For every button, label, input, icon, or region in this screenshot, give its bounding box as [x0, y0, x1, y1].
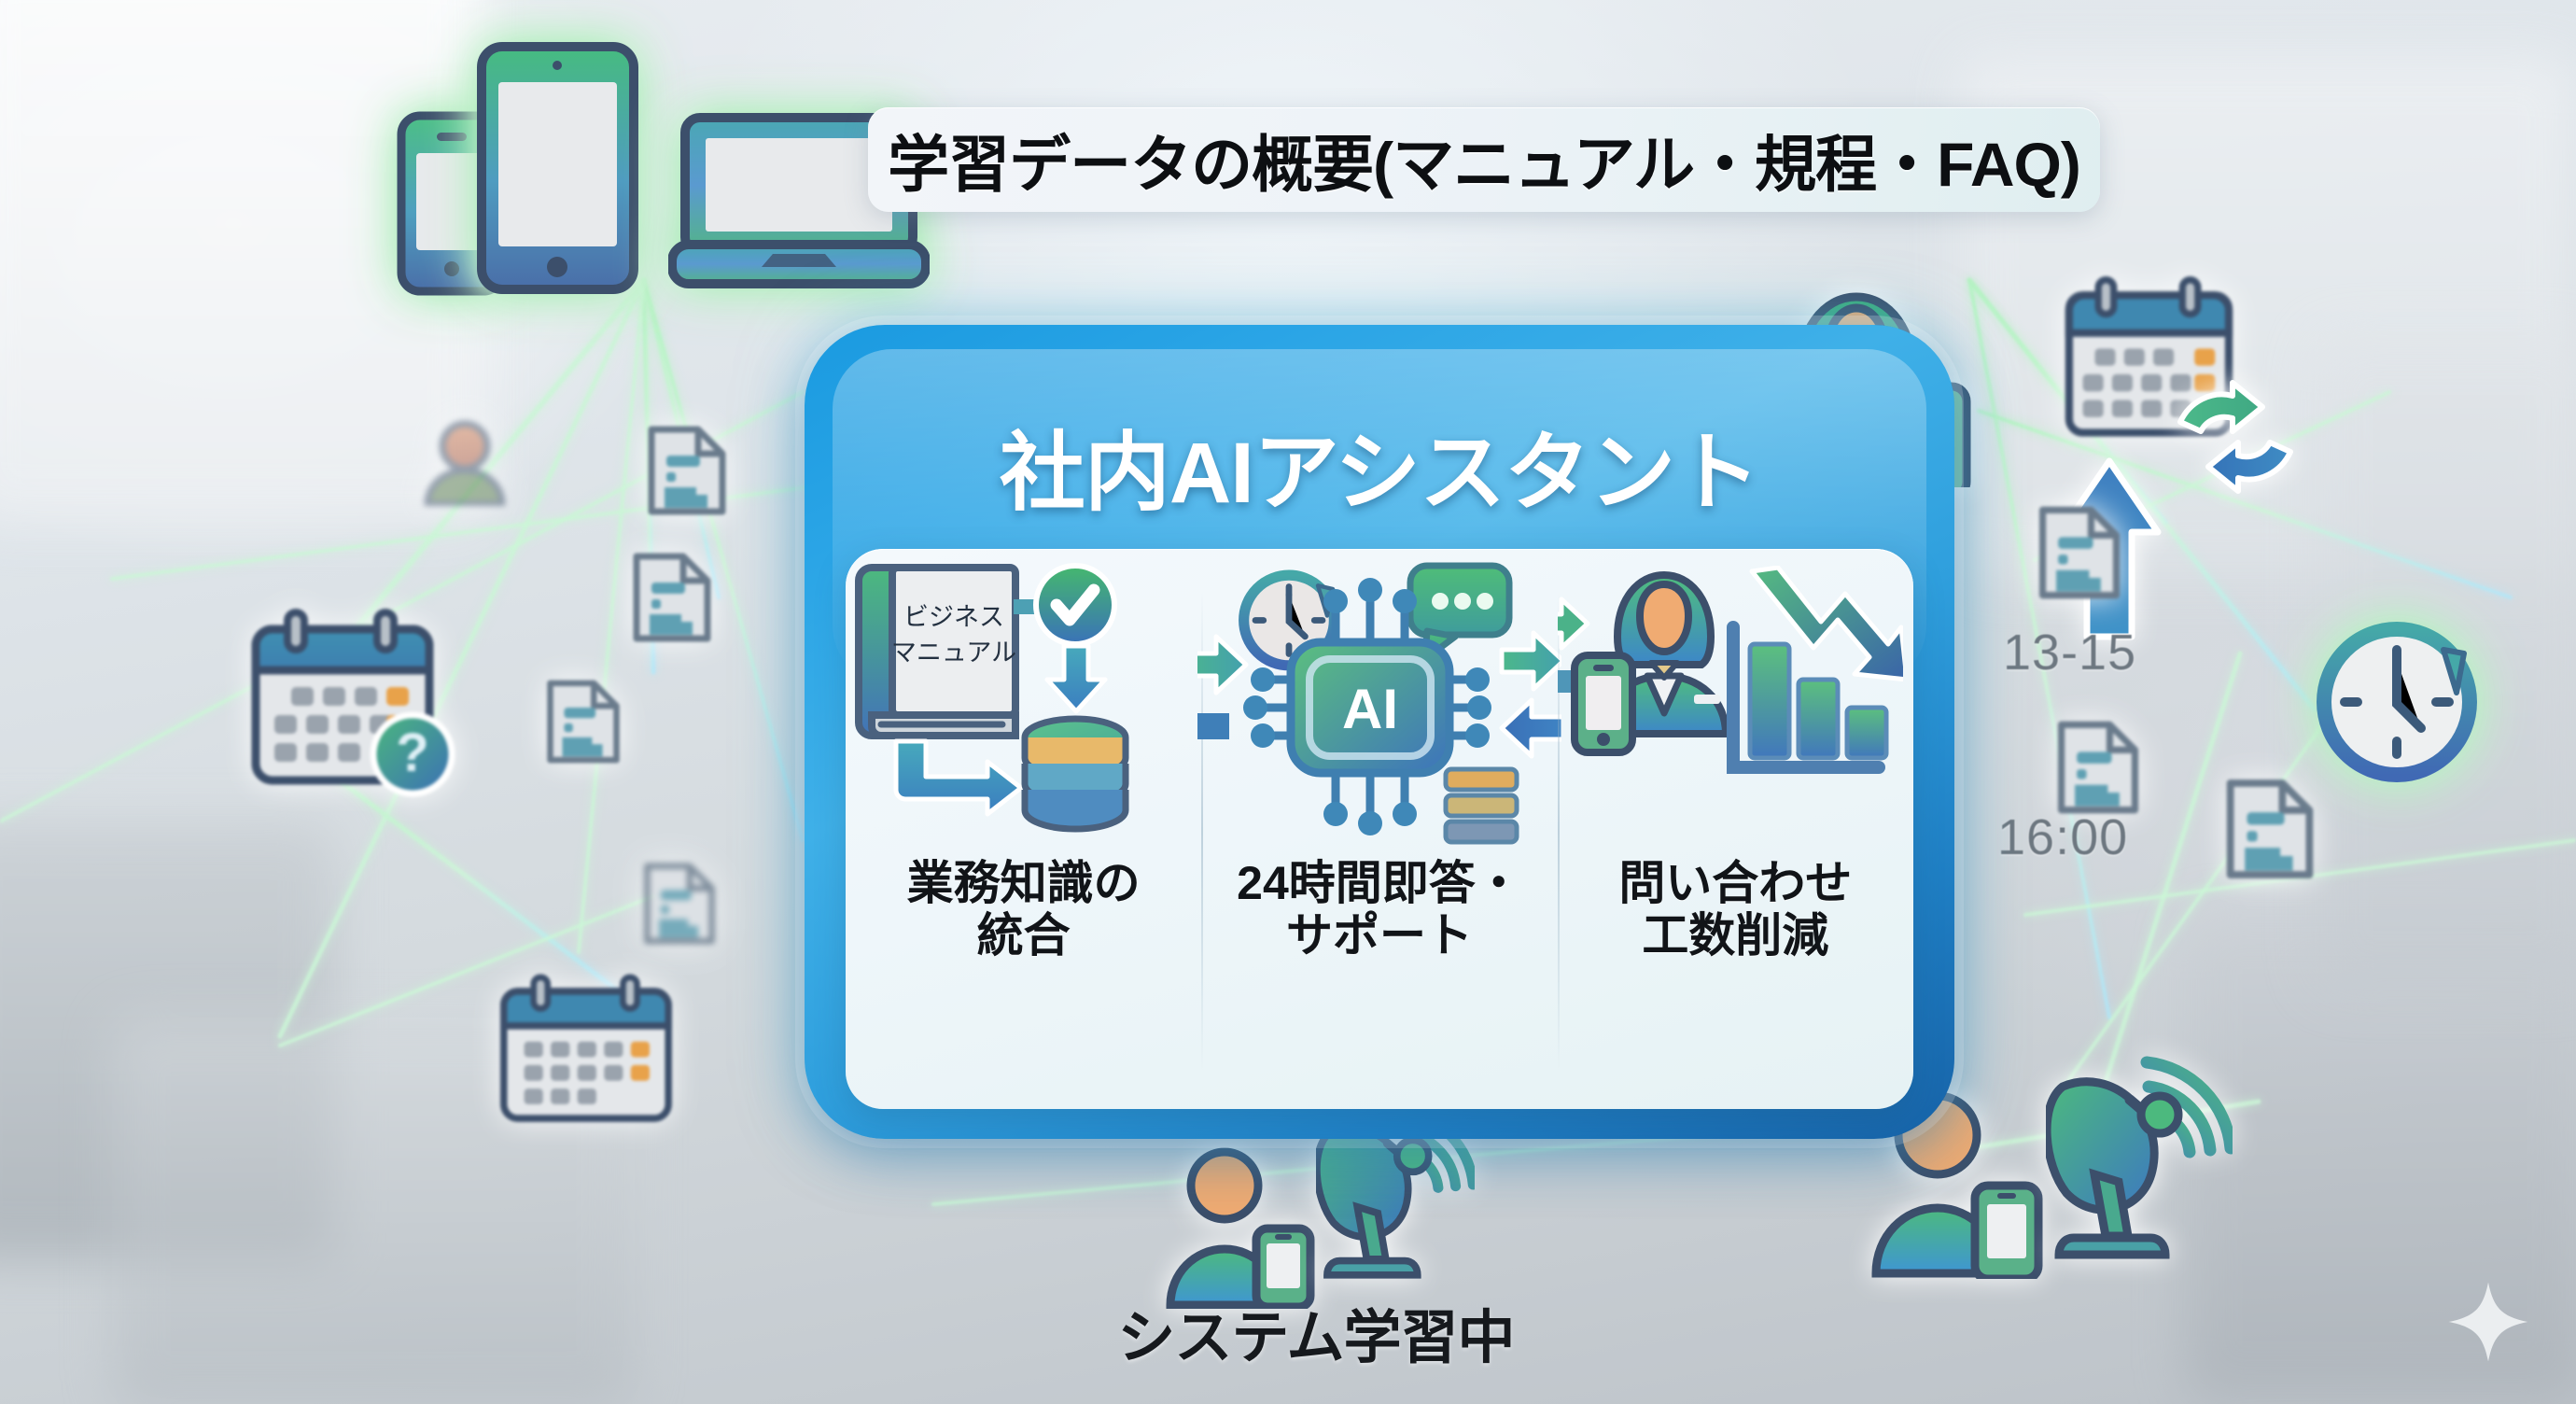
document-icon	[640, 859, 719, 953]
feature-column-support: AI 24時間即答・ サポート	[1201, 549, 1557, 1109]
banner-title-text: 学習データの概要(マニュアル・規程・FAQ)	[888, 115, 2080, 204]
support-artwork: AI	[1201, 549, 1557, 857]
user-icon	[418, 420, 511, 511]
label-line-1: 業務知識の	[907, 857, 1141, 909]
time-range-label: 13-15	[2003, 624, 2136, 681]
card-title: 社内AIアシスタント	[805, 403, 1954, 527]
label-line-2: サポート	[1237, 909, 1522, 962]
book-label-line2: マニュアル	[891, 639, 1016, 667]
column-label-knowledge: 業務知識の 統合	[907, 857, 1141, 962]
document-icon	[543, 676, 623, 772]
sparkle-icon	[2445, 1279, 2531, 1365]
sync-arrows-icon	[2165, 373, 2305, 509]
title-banner: 学習データの概要(マニュアル・規程・FAQ)	[868, 107, 2100, 212]
slide-canvas: ?	[0, 0, 2576, 1404]
book-label-line1: ビジネス	[903, 603, 1004, 631]
label-line-2: 統合	[907, 909, 1141, 962]
label-line-2: 工数削減	[1618, 909, 1852, 962]
reduction-artwork	[1558, 549, 1913, 857]
column-label-support: 24時間即答・ サポート	[1237, 857, 1522, 962]
feature-column-reduction: 問い合わせ 工数削減	[1558, 549, 1913, 1109]
clock-refresh-icon	[2303, 605, 2490, 796]
document-icon	[644, 422, 730, 524]
bottom-caption: システム学習中	[1055, 1290, 1577, 1374]
document-icon	[2035, 502, 2124, 608]
feature-column-knowledge: ビジネス マニュアル	[846, 549, 1201, 1109]
user-phone-icon	[1163, 1141, 1317, 1313]
calendar-icon	[493, 969, 689, 1145]
ai-chip-label: AI	[1342, 678, 1398, 740]
satellite-dish-icon	[2046, 1053, 2233, 1272]
document-icon	[2053, 717, 2143, 822]
label-line-1: 24時間即答・	[1237, 857, 1522, 909]
calendar-question-icon: ?	[243, 607, 476, 807]
svg-text:?: ?	[396, 723, 428, 783]
tablet-icon	[476, 41, 639, 300]
document-icon	[629, 549, 715, 651]
feature-panel: ビジネス マニュアル	[846, 549, 1913, 1109]
knowledge-artwork: ビジネス マニュアル	[846, 549, 1201, 857]
time-clock-label: 16:00	[1997, 808, 2128, 866]
